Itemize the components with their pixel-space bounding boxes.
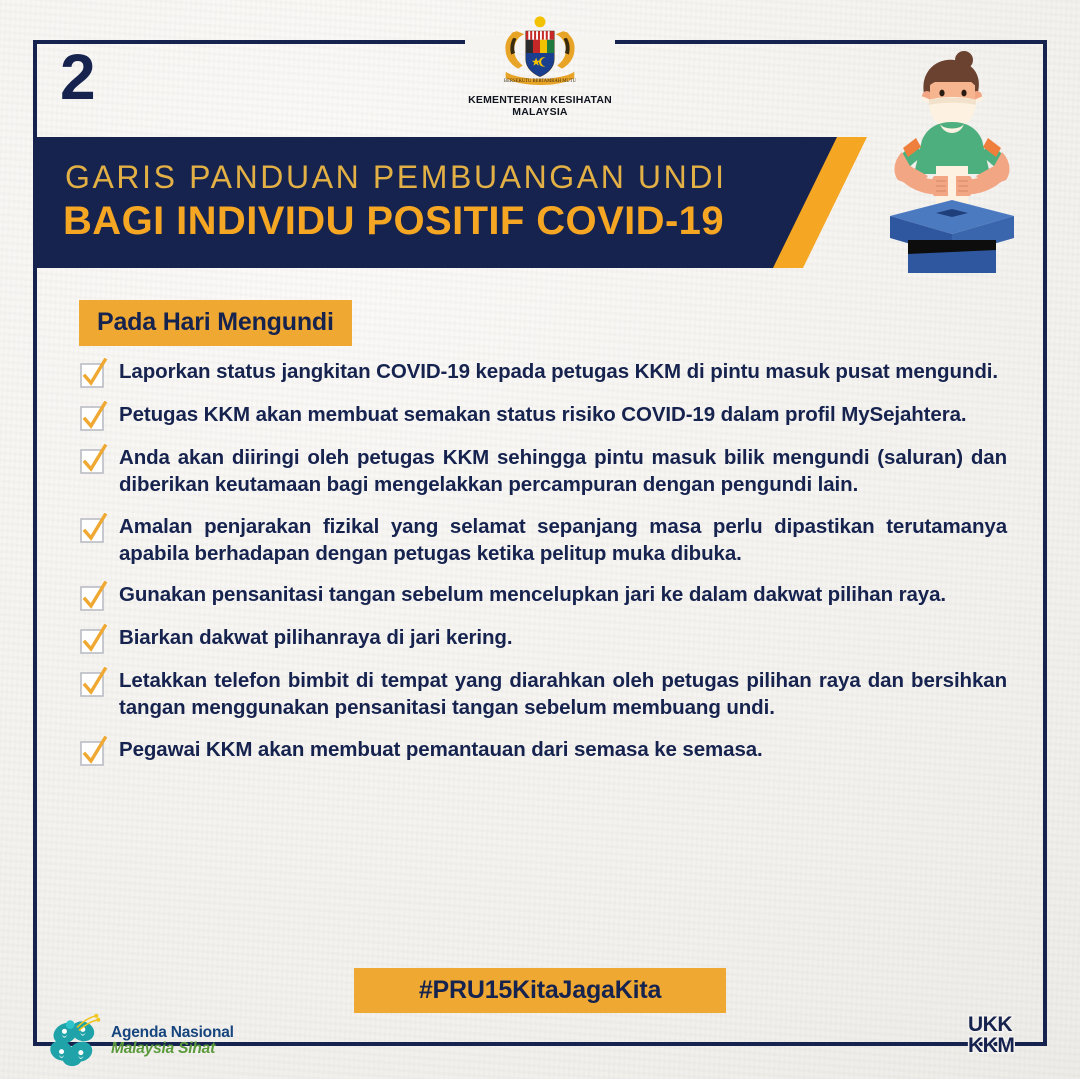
checklist-item-text: Laporkan status jangkitan COVID-19 kepad… [119,358,1007,387]
checkbox-checked-icon [79,405,103,430]
checklist-item-text: Gunakan pensanitasi tangan sebelum mence… [119,581,1007,610]
checklist: Laporkan status jangkitan COVID-19 kepad… [79,358,1007,779]
checklist-item: Laporkan status jangkitan COVID-19 kepad… [79,358,1007,387]
section-heading-badge: Pada Hari Mengundi [79,300,352,346]
checkbox-checked-icon [79,740,103,765]
frame-right-border [1043,40,1047,1046]
checklist-item-text: Anda akan diiringi oleh petugas KKM sehi… [119,444,1007,499]
checklist-item-text: Biarkan dakwat pilihanraya di jari kerin… [119,624,1007,653]
ukk-line2: KKM [968,1035,1014,1056]
checkbox-checked-icon [79,517,103,542]
checklist-item-text: Letakkan telefon bimbit di tempat yang d… [119,667,1007,722]
hashtag-banner: #PRU15KitaJagaKita [354,968,726,1013]
infographic-page: 2 [0,0,1080,1079]
title-banner: GARIS PANDUAN PEMBUANGAN UNDI BAGI INDIV… [37,137,867,268]
checkbox-checked-icon [79,671,103,696]
person-with-mask-casting-ballot-icon [872,48,1032,273]
agenda-nasional-logo: Agenda Nasional Malaysia Sihat [48,1012,234,1070]
banner-title-line2: BAGI INDIVIDU POSITIF COVID-19 [63,199,724,244]
checklist-item-text: Petugas KKM akan membuat semakan status … [119,401,1007,430]
hibiscus-flower-icon [48,1012,106,1070]
agenda-nasional-line1: Agenda Nasional [111,1025,234,1041]
checkbox-checked-icon [79,628,103,653]
malaysia-coat-of-arms-icon: BERSEKUTU BERTAMBAH MUTU [492,14,588,92]
checklist-item-text: Pegawai KKM akan membuat pemantauan dari… [119,736,1007,765]
checklist-item-text: Amalan penjarakan fizikal yang selamat s… [119,513,1007,568]
checklist-item: Letakkan telefon bimbit di tempat yang d… [79,667,1007,722]
ministry-crest-block: BERSEKUTU BERTAMBAH MUTU KEMENTERIAN KES… [440,14,640,118]
ukk-line1: UKK [968,1014,1014,1035]
step-number: 2 [60,45,95,109]
checklist-item: Biarkan dakwat pilihanraya di jari kerin… [79,624,1007,653]
checklist-item: Anda akan diiringi oleh petugas KKM sehi… [79,444,1007,499]
checklist-item: Gunakan pensanitasi tangan sebelum mence… [79,581,1007,610]
checklist-item: Amalan penjarakan fizikal yang selamat s… [79,513,1007,568]
ukk-kkm-logo: UKK KKM [968,1014,1014,1056]
agenda-nasional-line2: Malaysia Sihat [111,1041,234,1057]
ministry-label: KEMENTERIAN KESIHATAN MALAYSIA [440,94,640,118]
banner-title-line1: GARIS PANDUAN PEMBUANGAN UNDI [65,159,727,196]
svg-text:BERSEKUTU BERTAMBAH MUTU: BERSEKUTU BERTAMBAH MUTU [504,79,577,84]
checkbox-checked-icon [79,448,103,473]
checklist-item: Petugas KKM akan membuat semakan status … [79,401,1007,430]
checkbox-checked-icon [79,362,103,387]
checklist-item: Pegawai KKM akan membuat pemantauan dari… [79,736,1007,765]
checkbox-checked-icon [79,585,103,610]
